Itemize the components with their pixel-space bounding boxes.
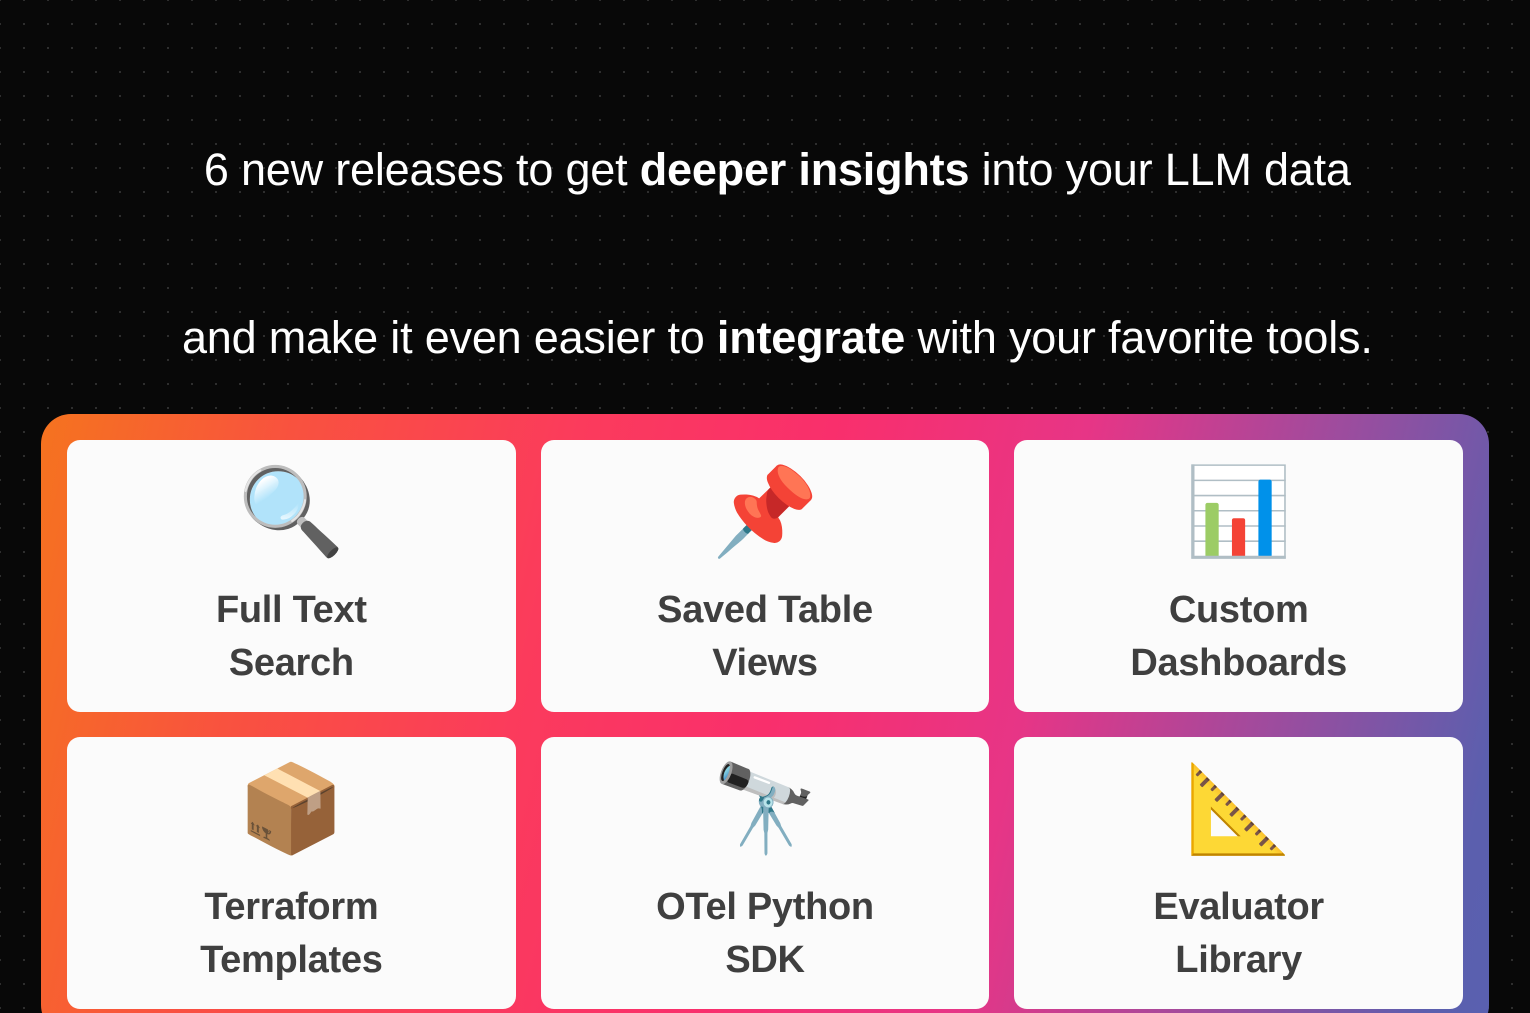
feature-card-evaluator-library[interactable]: 📐 Evaluator Library <box>1014 737 1463 1009</box>
headline-line-1: 6 new releases to get deeper insights in… <box>204 144 1351 195</box>
telescope-icon: 🔭 <box>711 755 818 863</box>
feature-card-label: Custom Dashboards <box>1130 584 1347 690</box>
feature-card-otel-python-sdk[interactable]: 🔭 OTel Python SDK <box>541 737 990 1009</box>
feature-card-grid: 🔍 Full Text Search 📌 Saved Table Views 📊… <box>67 440 1463 1009</box>
page-headline: 6 new releases to get deeper insights in… <box>55 86 1475 366</box>
package-icon: 📦 <box>238 755 345 863</box>
feature-card-terraform-templates[interactable]: 📦 Terraform Templates <box>67 737 516 1009</box>
feature-panel: 🔍 Full Text Search 📌 Saved Table Views 📊… <box>41 414 1489 1013</box>
feature-card-label: OTel Python SDK <box>656 881 874 987</box>
feature-card-label: Full Text Search <box>216 584 367 690</box>
headline-text-1a: 6 new releases to get <box>204 144 640 195</box>
feature-card-custom-dashboards[interactable]: 📊 Custom Dashboards <box>1014 440 1463 712</box>
headline-emphasis-1: deeper insights <box>640 144 970 195</box>
pushpin-icon: 📌 <box>711 458 818 566</box>
feature-card-label: Saved Table Views <box>657 584 873 690</box>
headline-line-2: and make it even easier to integrate wit… <box>182 312 1373 363</box>
headline-text-1b: into your LLM data <box>969 144 1350 195</box>
headline-text-2a: and make it even easier to <box>182 312 717 363</box>
feature-card-label: Evaluator Library <box>1153 881 1323 987</box>
headline-text-2b: with your favorite tools. <box>905 312 1373 363</box>
feature-card-saved-table-views[interactable]: 📌 Saved Table Views <box>541 440 990 712</box>
headline-emphasis-2: integrate <box>717 312 905 363</box>
magnifying-glass-icon: 🔍 <box>238 458 345 566</box>
feature-card-full-text-search[interactable]: 🔍 Full Text Search <box>67 440 516 712</box>
bar-chart-icon: 📊 <box>1185 458 1292 566</box>
triangular-ruler-icon: 📐 <box>1185 755 1292 863</box>
feature-card-label: Terraform Templates <box>200 881 382 987</box>
